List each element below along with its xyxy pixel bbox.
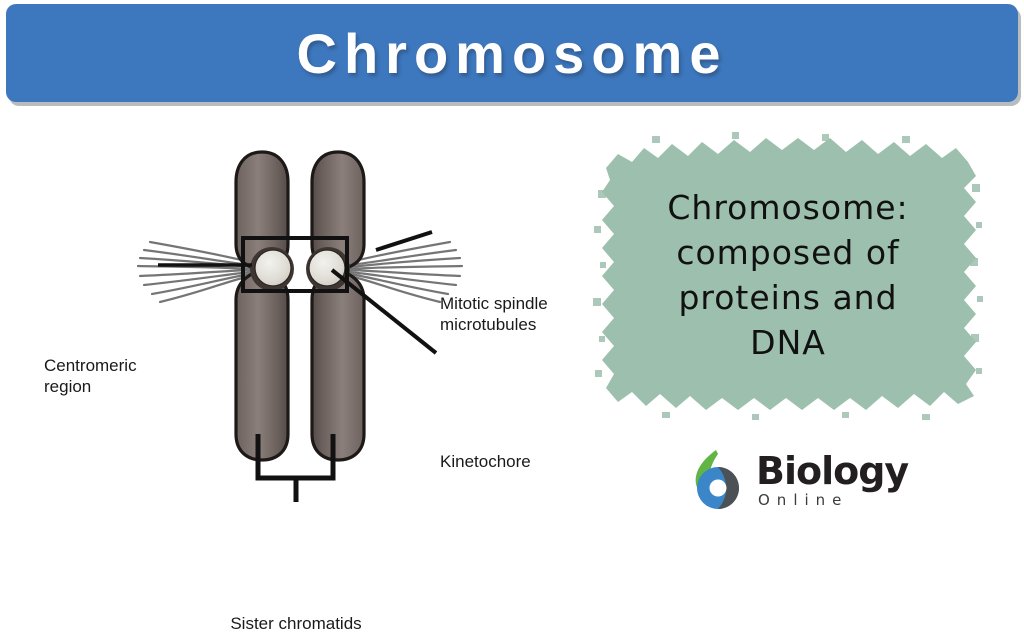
label-centromeric-region: Centromeric region xyxy=(44,356,137,397)
label-kinetochore: Kinetochore xyxy=(440,452,531,473)
logo-primary-text: Biology xyxy=(756,450,908,492)
note-line-1: Chromosome: xyxy=(667,188,908,227)
biology-online-logo-mark xyxy=(690,448,750,512)
microtubule-fibers-right xyxy=(350,242,462,302)
page-header-banner: Chromosome xyxy=(6,4,1018,102)
label-sister-chromatids: Sister chromatids xyxy=(196,614,396,635)
definition-note-text: Chromosome: composed of proteins and DNA xyxy=(592,130,984,420)
microtubule-fibers-left xyxy=(138,242,250,302)
label-mitotic-spindle-microtubules: Mitotic spindle microtubules xyxy=(440,294,548,335)
chromosome-diagram: Centromeric region Mitotic spindle micro… xyxy=(0,104,600,576)
definition-note-card: Chromosome: composed of proteins and DNA xyxy=(592,130,984,420)
logo-secondary-text: Online xyxy=(758,492,908,509)
chromatid-right xyxy=(312,152,364,460)
logo-wordmark: Biology Online xyxy=(756,450,908,509)
kinetochore-left xyxy=(250,247,294,291)
note-line-2: composed of xyxy=(676,233,899,272)
kinetochore-right xyxy=(306,247,350,291)
note-line-3: proteins and xyxy=(678,278,897,317)
chromosome-illustration xyxy=(0,104,600,576)
page-title: Chromosome xyxy=(297,21,728,86)
note-line-4: DNA xyxy=(750,323,826,362)
biology-online-logo[interactable]: Biology Online xyxy=(690,446,890,518)
chromatid-left xyxy=(236,152,288,460)
